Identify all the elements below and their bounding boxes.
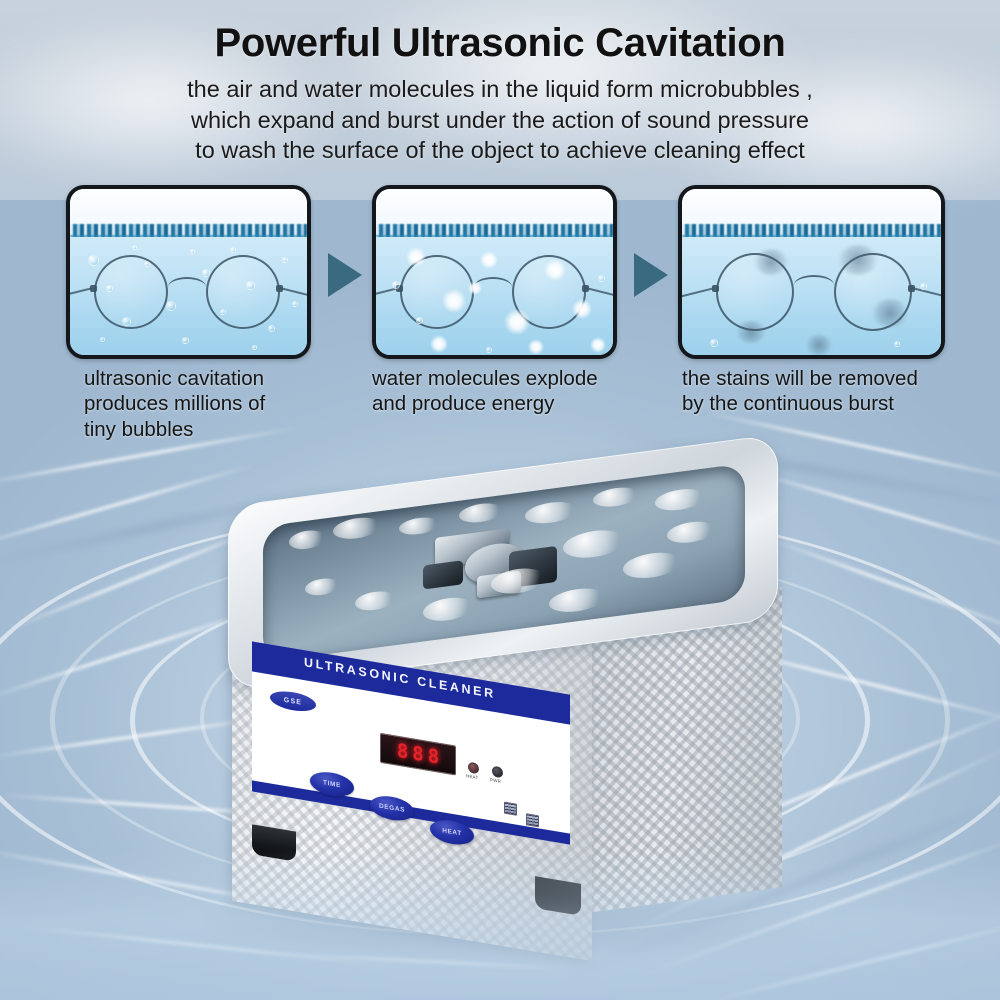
water-froth: [355, 589, 395, 612]
air-region: [682, 189, 941, 229]
burst-sparkle: [572, 299, 592, 319]
dissolving-stain: [754, 249, 788, 275]
step-panel-2: [372, 185, 617, 359]
step-caption-2: water molecules explode and produce ener…: [372, 366, 598, 417]
step-arrow-1-icon: [328, 253, 362, 297]
step-panel-3: [678, 185, 945, 359]
water-froth: [333, 515, 381, 541]
air-region: [376, 189, 613, 229]
heat-indicator-label: HEAT: [466, 773, 478, 780]
burst-sparkle: [406, 247, 426, 267]
subtitle-line-2: which expand and burst under the action …: [0, 105, 1000, 136]
dissolving-stain: [736, 321, 766, 343]
burst-sparkle: [430, 335, 448, 353]
bubble: [292, 301, 298, 307]
caption-1-line-3: tiny bubbles: [84, 417, 265, 442]
digital-display: 8 8 8: [380, 733, 456, 776]
ultrasonic-cleaner-product: ULTRASONIC CLEANER GSE 8 8 8 HEAT PWR TI…: [190, 450, 830, 990]
water-froth: [305, 577, 339, 597]
caption-2-line-1: water molecules explode: [372, 366, 598, 391]
burst-sparkle: [590, 337, 606, 353]
bubble: [122, 317, 131, 326]
power-indicator-label: PWR: [490, 777, 501, 784]
burst-sparkle: [480, 251, 498, 269]
bubble: [486, 347, 492, 353]
dissolving-stain: [872, 299, 908, 327]
bubble: [246, 281, 255, 290]
subtitle-line-3: to wash the surface of the object to ach…: [0, 135, 1000, 166]
glasses-clean-stains-removed-image: [682, 189, 941, 355]
eyeglasses-icon: [80, 251, 305, 331]
bubble: [598, 275, 605, 282]
air-region: [70, 189, 307, 229]
burst-sparkle: [442, 289, 466, 313]
step-caption-1: ultrasonic cavitation produces millions …: [84, 366, 265, 442]
rohs-mark-icon: [526, 813, 539, 827]
bubble: [202, 269, 210, 277]
step-captions: ultrasonic cavitation produces millions …: [0, 366, 1000, 446]
bubble: [100, 337, 105, 342]
caption-3-line-2: by the continuous burst: [682, 391, 918, 416]
caption-2-line-2: and produce energy: [372, 391, 598, 416]
caption-1-line-1: ultrasonic cavitation: [84, 366, 265, 391]
caption-1-line-2: produces millions of: [84, 391, 265, 416]
bridge: [794, 275, 834, 285]
ce-mark-icon: [504, 802, 517, 816]
step-arrow-2-icon: [634, 253, 668, 297]
product-infographic-page: Powerful Ultrasonic Cavitation the air a…: [0, 0, 1000, 1000]
water-froth: [459, 501, 503, 525]
display-digit-1: 8: [397, 741, 408, 762]
step-caption-3: the stains will be removed by the contin…: [682, 366, 918, 417]
burst-sparkle: [468, 281, 482, 295]
dissolving-stain: [806, 335, 832, 355]
heat-indicator-led: [468, 762, 479, 775]
glasses-in-bubbling-water-image: [70, 189, 307, 355]
bubble: [182, 337, 189, 344]
burst-sparkle: [528, 339, 544, 355]
bubble: [220, 309, 226, 315]
water-froth: [655, 486, 705, 513]
water-froth: [623, 550, 681, 582]
page-subtitle: the air and water molecules in the liqui…: [0, 74, 1000, 166]
bubble: [282, 257, 288, 263]
process-steps: [0, 185, 1000, 365]
subtitle-line-1: the air and water molecules in the liqui…: [0, 74, 1000, 105]
burst-sparkle: [504, 309, 530, 335]
water-froth: [289, 528, 325, 551]
bubble: [392, 281, 400, 289]
dissolving-stain: [838, 245, 878, 275]
water-froth: [593, 485, 639, 509]
bubble: [268, 325, 275, 332]
step-panel-1: [66, 185, 311, 359]
burst-sparkle: [544, 259, 566, 281]
bubble: [894, 341, 900, 347]
bubble: [190, 249, 195, 254]
bubble: [252, 345, 257, 350]
bubble: [132, 245, 137, 250]
glasses-with-exploding-bubbles-image: [376, 189, 613, 355]
part-bracket: [423, 560, 463, 589]
bridge: [168, 277, 206, 287]
bubble: [710, 339, 718, 347]
caption-3-line-1: the stains will be removed: [682, 366, 918, 391]
water-froth: [667, 519, 715, 545]
bubble: [88, 255, 99, 266]
bubble: [144, 261, 150, 267]
bubble: [106, 285, 113, 292]
bubble: [166, 301, 176, 311]
bubble: [920, 283, 927, 290]
time-button[interactable]: TIME: [310, 769, 354, 799]
power-indicator-led: [492, 766, 503, 779]
model-badge: GSE: [270, 688, 316, 714]
page-title: Powerful Ultrasonic Cavitation: [0, 0, 1000, 65]
lens-right: [206, 255, 280, 329]
lens-left: [94, 255, 168, 329]
display-digit-3: 8: [428, 746, 439, 767]
bubble: [230, 247, 236, 253]
header-block: Powerful Ultrasonic Cavitation the air a…: [0, 0, 1000, 166]
bubble: [416, 317, 423, 324]
display-digit-2: 8: [412, 744, 423, 765]
